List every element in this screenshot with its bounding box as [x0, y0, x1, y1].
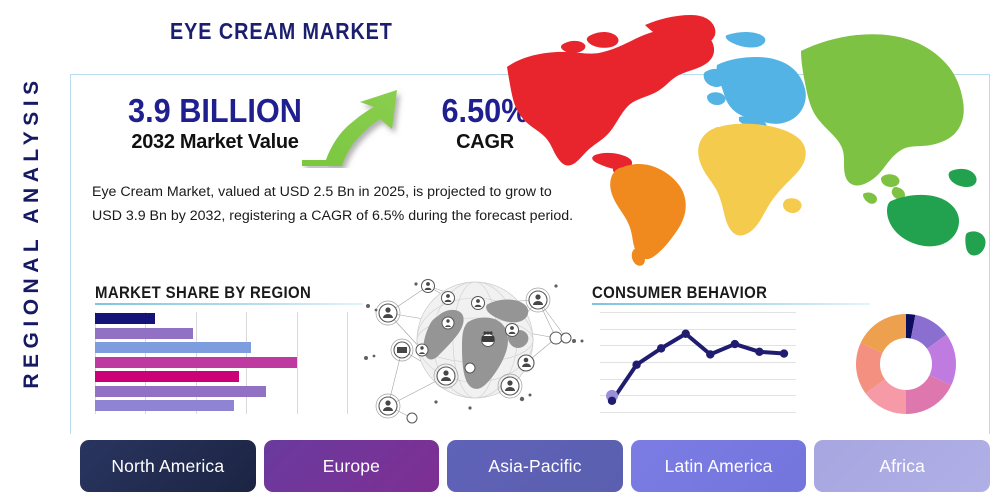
region-button-latin-america[interactable]: Latin America	[631, 440, 807, 492]
region-buttons-row: North AmericaEuropeAsia-PacificLatin Ame…	[80, 440, 990, 492]
region-button-north-america[interactable]: North America	[80, 440, 256, 492]
bar-item	[95, 386, 266, 397]
bar-item	[95, 313, 155, 324]
bar-fill	[95, 386, 266, 397]
consumer-donut-chart	[852, 310, 960, 418]
line-marker	[731, 340, 739, 348]
bar-fill	[95, 357, 297, 368]
region-button-europe[interactable]: Europe	[264, 440, 440, 492]
line-marker	[755, 348, 763, 356]
bar-fill	[95, 342, 251, 353]
bar-fill	[95, 313, 155, 324]
consumer-behavior-line-chart	[600, 312, 796, 412]
map-region-europe	[704, 32, 806, 129]
map-region-north-america	[507, 15, 715, 179]
line-marker	[657, 344, 665, 352]
line-marker	[780, 349, 788, 357]
bar-item	[95, 342, 251, 353]
vertical-rail: REGIONAL ANALYSIS	[0, 0, 62, 500]
region-button-label: Asia-Pacific	[488, 456, 581, 477]
line-marker	[706, 350, 714, 358]
section-header-consumer-behavior: CONSUMER BEHAVIOR	[592, 283, 767, 303]
kpi-market-value: 3.9 BILLION 2032 Market Value	[100, 92, 330, 154]
map-region-south-america	[610, 164, 686, 266]
bar-item	[95, 357, 297, 368]
bar-item	[95, 371, 239, 382]
regional-analysis-vertical-title: REGIONAL ANALYSIS	[20, 32, 44, 432]
region-button-label: Europe	[323, 456, 380, 477]
line-series	[600, 312, 796, 412]
section-header-market-share: MARKET SHARE BY REGION	[95, 283, 311, 303]
bar-gridline	[297, 312, 298, 414]
bar-fill	[95, 400, 234, 411]
map-region-africa	[698, 124, 806, 236]
bar-item	[95, 400, 234, 411]
kpi-market-value-number: 3.9 BILLION	[108, 92, 322, 130]
globe-network-icon	[360, 268, 590, 428]
map-region-oceania	[887, 169, 986, 256]
region-button-label: Latin America	[665, 456, 773, 477]
line-marker	[682, 330, 690, 338]
region-button-africa[interactable]: Africa	[814, 440, 990, 492]
page-title: EYE CREAM MARKET	[170, 18, 393, 45]
world-map-icon	[495, 5, 1000, 270]
region-button-label: Africa	[879, 456, 925, 477]
market-share-bar-chart	[95, 312, 347, 414]
section-rule-consumer-behavior	[592, 303, 870, 305]
growth-arrow-icon	[300, 88, 408, 168]
donut-series	[852, 310, 960, 418]
bar-item	[95, 328, 193, 339]
line-marker	[608, 397, 616, 405]
infographic-root: REGIONAL ANALYSIS EYE CREAM MARKET 3.9 B…	[0, 0, 1000, 500]
region-button-asia-pacific[interactable]: Asia-Pacific	[447, 440, 623, 492]
section-rule-market-share	[95, 303, 363, 305]
map-region-asia	[801, 34, 964, 204]
bar-fill	[95, 328, 193, 339]
line-gridline	[600, 412, 796, 413]
region-button-label: North America	[111, 456, 224, 477]
kpi-market-value-label: 2032 Market Value	[100, 130, 330, 154]
line-marker	[632, 361, 640, 369]
bar-fill	[95, 371, 239, 382]
bar-gridline	[347, 312, 348, 414]
